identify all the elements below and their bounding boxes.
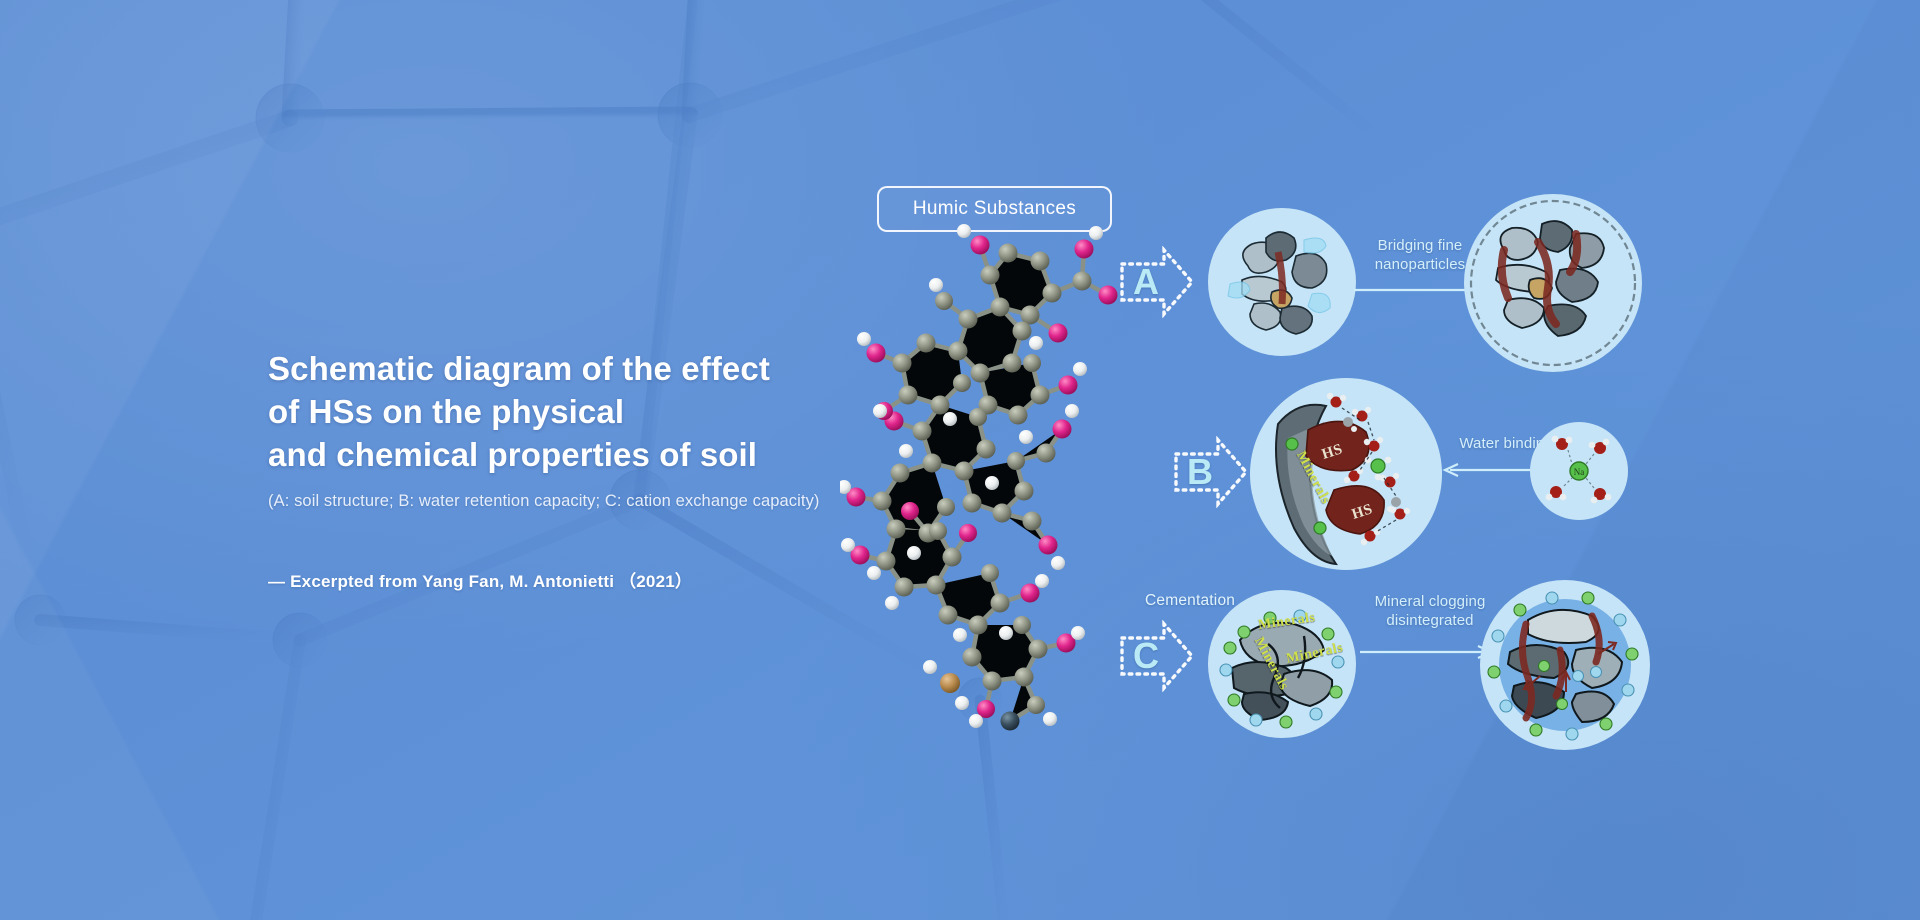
panel-legend-caption: (A: soil structure; B: water retention c… bbox=[268, 492, 908, 511]
stage-arrow-b[interactable]: B bbox=[1172, 436, 1250, 508]
circle-b-left[interactable]: HS HS Minerals bbox=[1250, 378, 1442, 570]
page-title: Schematic diagram of the effect of HSs o… bbox=[268, 348, 908, 477]
stage-arrow-c-letter: C bbox=[1118, 620, 1174, 692]
source-attribution: — Excerpted from Yang Fan, M. Antonietti… bbox=[268, 567, 908, 592]
circle-a-left[interactable] bbox=[1208, 208, 1356, 356]
title-line-1: Schematic diagram of the effect bbox=[268, 348, 908, 391]
title-line-3: and chemical properties of soil bbox=[268, 434, 908, 477]
headline-block: Schematic diagram of the effect of HSs o… bbox=[268, 348, 908, 592]
stage-arrow-b-letter: B bbox=[1172, 436, 1228, 508]
flow-arrow-c bbox=[1358, 644, 1498, 660]
circle-c-left[interactable]: Minerals Minerals Minerals bbox=[1208, 590, 1356, 738]
svg-text:Na: Na bbox=[1574, 467, 1585, 477]
circle-c-right[interactable] bbox=[1480, 580, 1650, 750]
circle-a-right-art bbox=[1464, 194, 1642, 372]
circle-b-right[interactable]: Na bbox=[1530, 422, 1628, 520]
stage-arrow-a-letter: A bbox=[1118, 246, 1174, 318]
stage-arrow-a[interactable]: A bbox=[1118, 246, 1196, 318]
title-line-2: of HSs on the physical bbox=[268, 391, 908, 434]
circle-a-left-art bbox=[1208, 208, 1356, 356]
stage-arrow-c[interactable]: C bbox=[1118, 620, 1196, 692]
circle-c-right-art bbox=[1480, 580, 1650, 750]
circle-b-left-art bbox=[1250, 378, 1442, 570]
circle-b-right-art: Na bbox=[1530, 422, 1628, 520]
poster-canvas: Schematic diagram of the effect of HSs o… bbox=[0, 0, 1920, 920]
circle-a-right[interactable] bbox=[1464, 194, 1642, 372]
circle-c-left-art bbox=[1208, 590, 1356, 738]
